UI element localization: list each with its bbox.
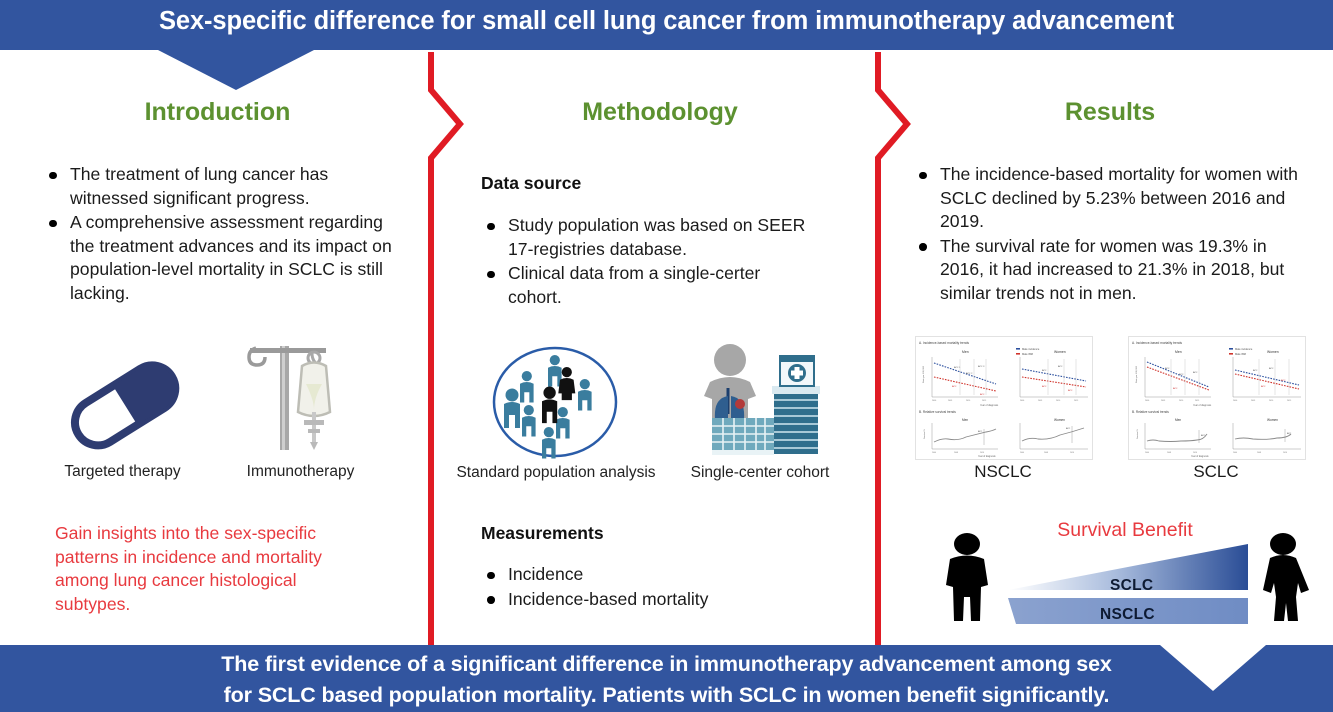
svg-text:2010: 2010 [1269, 400, 1273, 402]
caption-nsclc: NSCLC [915, 462, 1091, 482]
list-item: The survival rate for women was 19.3% in… [910, 235, 1302, 306]
sclc-figure-panel[interactable]: A. Incidence-based mortality trends Male… [1128, 336, 1306, 460]
svg-text:APC: APC [1066, 427, 1071, 430]
svg-text:2000: 2000 [932, 452, 936, 454]
svg-text:2016: 2016 [1070, 452, 1074, 454]
svg-text:2000: 2000 [1020, 452, 1024, 454]
svg-text:Year of diagnosis: Year of diagnosis [1191, 455, 1209, 458]
svg-text:Male incidence: Male incidence [1022, 347, 1040, 351]
svg-text:Rate per 100,000: Rate per 100,000 [922, 365, 925, 383]
svg-text:Male IBM: Male IBM [1022, 352, 1033, 356]
heading-methodology: Methodology [465, 95, 855, 129]
svg-text:2015: 2015 [1287, 400, 1291, 402]
svg-text:APC: APC [1042, 369, 1047, 372]
conclusion-line-1: The first evidence of a significant diff… [221, 652, 1111, 676]
results-bullet-list: The incidence-based mortality for women … [910, 163, 1302, 306]
svg-text:A. Incidence-based mortality t: A. Incidence-based mortality trends [1132, 341, 1182, 345]
svg-text:APC: APC [978, 430, 983, 433]
list-item: The incidence-based mortality for women … [910, 163, 1302, 234]
svg-text:B. Relative survival trends: B. Relative survival trends [1132, 410, 1169, 414]
survival-label-nsclc: NSCLC [1100, 606, 1155, 624]
svg-text:APC: APC [1261, 385, 1266, 388]
svg-text:2005: 2005 [948, 400, 952, 402]
iv-drip-icon [240, 332, 360, 452]
column-introduction: Introduction [30, 95, 405, 129]
svg-text:APC: APC [980, 393, 985, 396]
svg-text:Men: Men [962, 418, 968, 422]
caption-sclc: SCLC [1128, 462, 1304, 482]
svg-text:2015: 2015 [1195, 400, 1199, 402]
svg-text:B. Relative survival trends: B. Relative survival trends [919, 410, 956, 414]
list-item: Incidence [478, 563, 818, 587]
svg-text:APC: APC [1179, 373, 1184, 376]
svg-text:2015: 2015 [982, 400, 986, 402]
caption-immunotherapy: Immunotherapy [228, 463, 373, 481]
svg-text:APC: APC [1281, 379, 1286, 382]
svg-text:2008: 2008 [1167, 452, 1171, 454]
survival-benefit-diagram: Survival Benefit [930, 518, 1320, 630]
svg-text:APC: APC [1058, 365, 1063, 368]
female-figure-icon [1263, 533, 1309, 621]
divider-methodology-results [852, 52, 912, 648]
graphical-abstract: Sex-specific difference for small cell l… [0, 0, 1333, 712]
heading-introduction: Introduction [30, 95, 405, 129]
conclusion-line-2: for SCLC based population mortality. Pat… [0, 680, 1333, 711]
svg-text:2005: 2005 [1251, 400, 1255, 402]
svg-text:Women: Women [1267, 350, 1279, 354]
nsclc-figure-panel[interactable]: A. Incidence-based mortality trends Male… [915, 336, 1093, 460]
hospital-cohort-icon [690, 340, 830, 458]
svg-text:APC 3: APC 3 [978, 365, 985, 368]
svg-text:2005: 2005 [1038, 400, 1042, 402]
svg-text:Men: Men [1175, 418, 1181, 422]
conclusion-text: The first evidence of a significant diff… [0, 645, 1333, 712]
svg-text:Women: Women [1054, 418, 1065, 422]
svg-text:APC: APC [1193, 371, 1198, 374]
caption-single-center-cohort: Single-center cohort [685, 464, 835, 482]
svg-text:Year of diagnosis: Year of diagnosis [980, 404, 999, 407]
svg-text:2000: 2000 [1145, 400, 1149, 402]
svg-text:Year of diagnosis: Year of diagnosis [1193, 404, 1212, 407]
subheading-measurements: Measurements [481, 522, 604, 544]
title-banner: Sex-specific difference for small cell l… [0, 0, 1333, 50]
svg-text:APC 1: APC 1 [954, 366, 961, 369]
column-results: Results [905, 95, 1315, 129]
svg-text:Male incidence: Male incidence [1235, 347, 1253, 351]
population-circle-icon [490, 345, 620, 460]
list-item: Incidence-based mortality [478, 588, 818, 612]
svg-text:Women: Women [1267, 418, 1278, 422]
svg-text:Women: Women [1054, 350, 1066, 354]
survival-label-sclc: SCLC [1110, 577, 1153, 595]
heading-results: Results [905, 95, 1315, 129]
svg-text:2016: 2016 [1193, 452, 1197, 454]
pill-icon [58, 355, 188, 450]
svg-text:2000: 2000 [1145, 452, 1149, 454]
title-down-arrow [158, 50, 314, 90]
svg-text:2010: 2010 [1056, 400, 1060, 402]
list-item: The treatment of lung cancer has witness… [40, 163, 392, 210]
subheading-data-source: Data source [481, 172, 581, 194]
svg-text:2000: 2000 [1233, 400, 1237, 402]
svg-text:2010: 2010 [966, 400, 970, 402]
svg-text:2000: 2000 [932, 400, 936, 402]
svg-text:2005: 2005 [1161, 400, 1165, 402]
svg-text:APC: APC [1287, 432, 1292, 435]
list-item: Clinical data from a single-certer cohor… [478, 262, 818, 309]
svg-text:APC: APC [1068, 389, 1073, 392]
svg-text:Survival %: Survival % [923, 429, 926, 439]
caption-standard-population-analysis: Standard population analysis [456, 464, 656, 482]
svg-text:2000: 2000 [1233, 452, 1237, 454]
introduction-bullet-list: The treatment of lung cancer has witness… [40, 163, 392, 306]
svg-text:2008: 2008 [954, 452, 958, 454]
measurements-bullet-list: Incidence Incidence-based mortality [478, 563, 818, 612]
list-item: Study population was based on SEER 17-re… [478, 214, 818, 261]
svg-text:APC: APC [952, 385, 957, 388]
svg-text:A. Incidence-based mortality t: A. Incidence-based mortality trends [919, 341, 969, 345]
svg-text:2015: 2015 [1074, 400, 1078, 402]
svg-text:2000: 2000 [1020, 400, 1024, 402]
svg-text:APC: APC [1173, 387, 1178, 390]
svg-text:Survival %: Survival % [1136, 429, 1139, 439]
svg-text:Men: Men [1175, 350, 1182, 354]
svg-text:APC: APC [1042, 385, 1047, 388]
introduction-highlight: Gain insights into the sex-specific patt… [55, 522, 365, 616]
data-source-bullet-list: Study population was based on SEER 17-re… [478, 214, 818, 310]
svg-text:2016: 2016 [980, 452, 984, 454]
svg-text:APC: APC [1165, 367, 1170, 370]
page-title: Sex-specific difference for small cell l… [0, 0, 1333, 44]
svg-text:Male IBM: Male IBM [1235, 352, 1246, 356]
male-figure-icon [946, 533, 988, 621]
svg-text:2010: 2010 [1179, 400, 1183, 402]
svg-text:APC: APC [1201, 434, 1206, 437]
caption-targeted-therapy: Targeted therapy [45, 463, 200, 481]
svg-text:APC: APC [1269, 367, 1274, 370]
list-item: A comprehensive assessment regarding the… [40, 211, 392, 305]
svg-text:Year of diagnosis: Year of diagnosis [978, 455, 996, 458]
svg-text:Men: Men [962, 350, 969, 354]
svg-text:APC: APC [1253, 369, 1258, 372]
svg-text:Rate per 100,000: Rate per 100,000 [1135, 365, 1138, 383]
svg-text:2008: 2008 [1044, 452, 1048, 454]
svg-text:APC 2: APC 2 [966, 372, 973, 375]
svg-text:2008: 2008 [1257, 452, 1261, 454]
column-methodology: Methodology [465, 95, 855, 129]
svg-text:2016: 2016 [1283, 452, 1287, 454]
divider-intro-methodology [405, 52, 465, 648]
